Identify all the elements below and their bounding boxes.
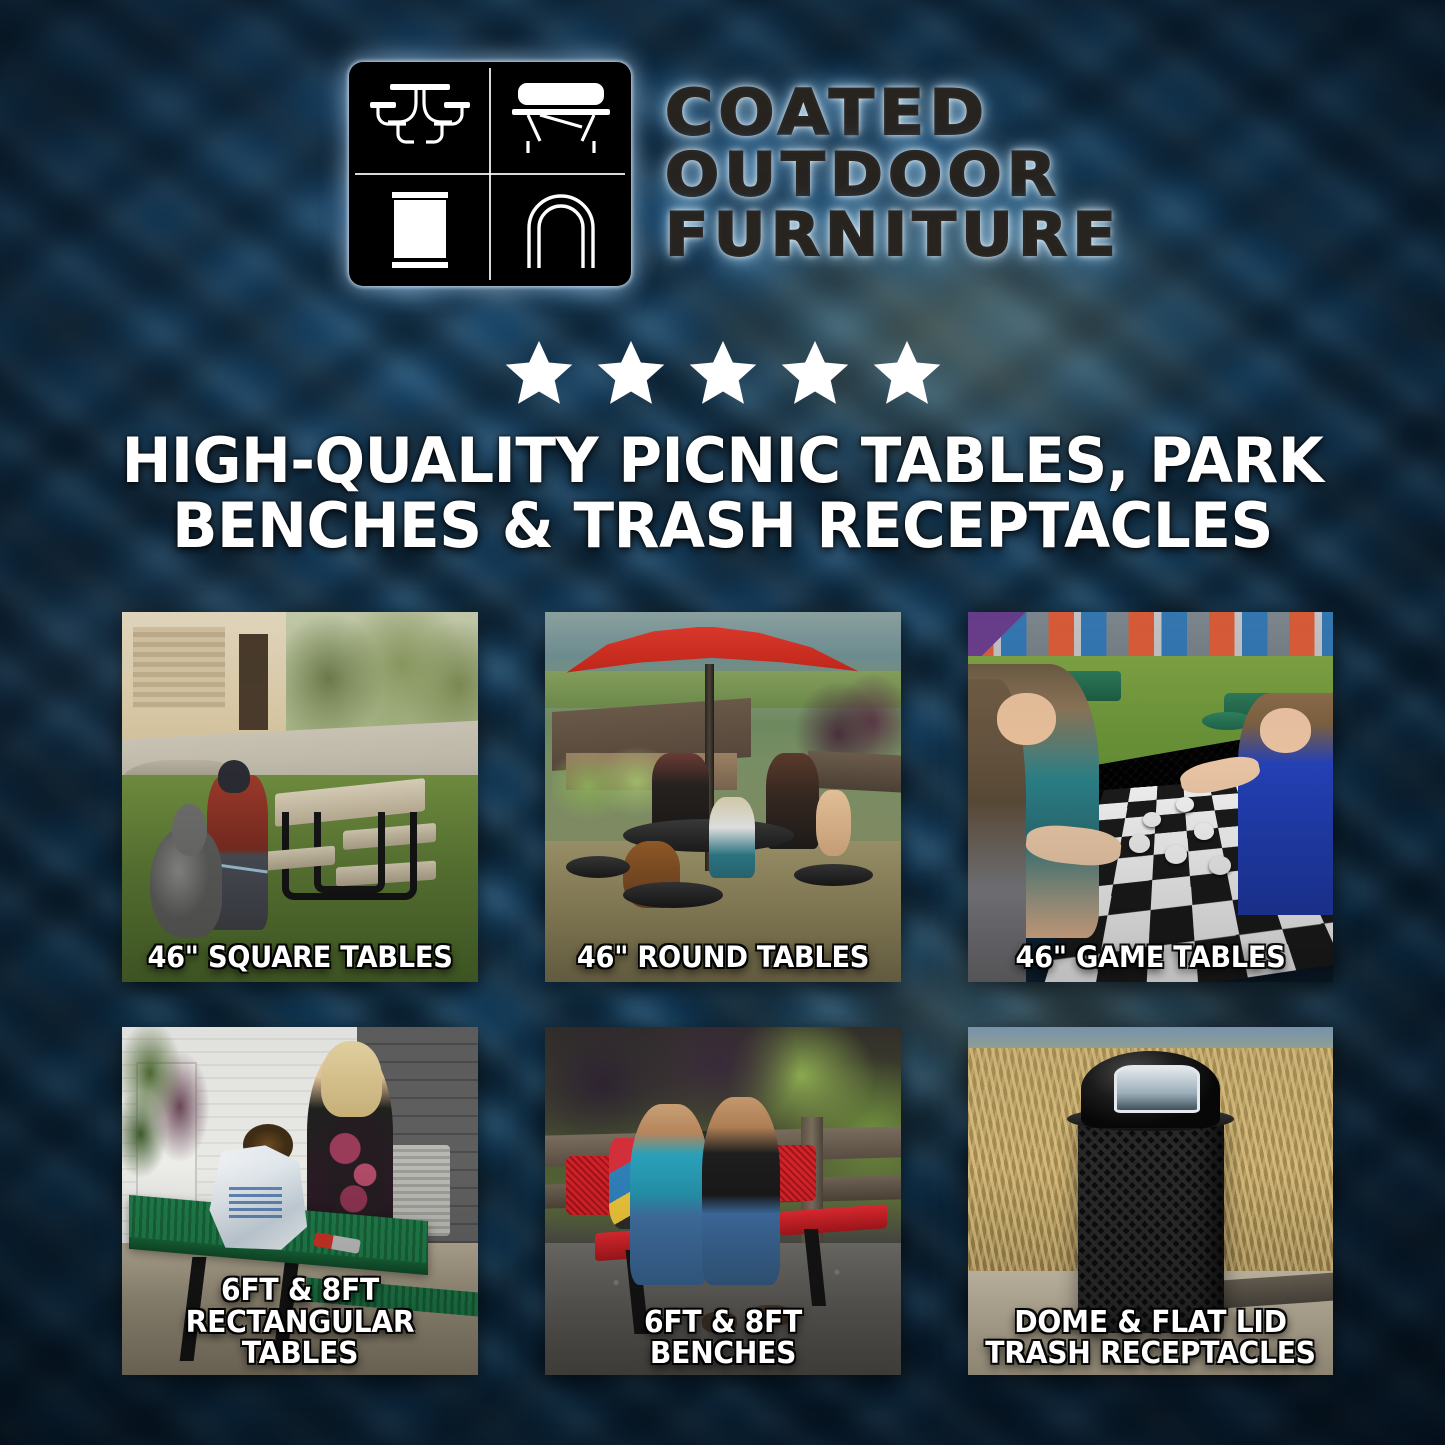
tile-caption: 6FT & 8FT BENCHES bbox=[561, 1307, 884, 1369]
product-tile-square-tables[interactable]: 46" SQUARE TABLES bbox=[122, 612, 478, 982]
picnic-table-icon bbox=[349, 62, 490, 174]
tile-caption-line-1: DOME & FLAT LID bbox=[1014, 1305, 1286, 1340]
product-grid: 46" SQUARE TABLES 46" ROUND TABLES bbox=[122, 612, 1333, 1375]
tile-caption-line-1: 46" ROUND TABLES bbox=[577, 940, 869, 974]
tile-caption: 46" GAME TABLES bbox=[985, 942, 1317, 972]
tile-caption: 46" SQUARE TABLES bbox=[138, 942, 461, 972]
brand-logo: COATED OUTDOOR FURNITURE bbox=[0, 62, 1445, 286]
logo-icon-grid bbox=[349, 62, 631, 286]
photo-round-tables bbox=[545, 612, 901, 982]
star-icon bbox=[869, 336, 945, 410]
photo-game-tables bbox=[968, 612, 1333, 982]
headline-line-1: HIGH-QUALITY PICNIC TABLES, PARK bbox=[87, 428, 1359, 493]
tile-caption-line-2: BENCHES bbox=[561, 1338, 884, 1369]
brand-name-line3: FURNITURE bbox=[665, 206, 1121, 265]
photo-square-tables bbox=[122, 612, 478, 982]
product-tile-game-tables[interactable]: 46" GAME TABLES bbox=[968, 612, 1333, 982]
brand-name-line2: OUTDOOR bbox=[665, 146, 1121, 205]
bench-icon bbox=[490, 62, 631, 174]
tile-caption-line-1: 6FT & 8FT bbox=[221, 1273, 379, 1308]
tile-caption-line-2: TRASH RECEPTACLES bbox=[985, 1338, 1317, 1369]
tile-caption: 46" ROUND TABLES bbox=[561, 942, 884, 972]
tile-caption-line-2: RECTANGULAR TABLES bbox=[138, 1307, 461, 1369]
star-rating bbox=[0, 336, 1445, 410]
headline-line-2: BENCHES & TRASH RECEPTACLES bbox=[87, 493, 1359, 558]
tile-caption: 6FT & 8FT RECTANGULAR TABLES bbox=[138, 1275, 461, 1369]
headline: HIGH-QUALITY PICNIC TABLES, PARK BENCHES… bbox=[87, 428, 1359, 558]
star-icon bbox=[593, 336, 669, 410]
product-tile-benches[interactable]: 6FT & 8FT BENCHES bbox=[545, 1027, 901, 1375]
bike-rack-icon bbox=[490, 174, 631, 286]
star-icon bbox=[501, 336, 577, 410]
tile-caption-line-1: 46" GAME TABLES bbox=[1015, 940, 1285, 974]
promo-poster: COATED OUTDOOR FURNITURE HIGH-QUALITY PI… bbox=[0, 0, 1445, 1445]
product-tile-rectangular-tables[interactable]: 6FT & 8FT RECTANGULAR TABLES bbox=[122, 1027, 478, 1375]
star-icon bbox=[685, 336, 761, 410]
tile-caption: DOME & FLAT LID TRASH RECEPTACLES bbox=[985, 1307, 1317, 1369]
brand-name-line1: COATED bbox=[665, 83, 1121, 144]
star-icon bbox=[777, 336, 853, 410]
product-tile-trash-receptacles[interactable]: DOME & FLAT LID TRASH RECEPTACLES bbox=[968, 1027, 1333, 1375]
product-tile-round-tables[interactable]: 46" ROUND TABLES bbox=[545, 612, 901, 982]
trash-can-icon bbox=[349, 174, 490, 286]
tile-caption-line-1: 46" SQUARE TABLES bbox=[147, 940, 452, 974]
tile-caption-line-1: 6FT & 8FT bbox=[644, 1305, 802, 1340]
brand-wordmark: COATED OUTDOOR FURNITURE bbox=[665, 83, 1095, 265]
